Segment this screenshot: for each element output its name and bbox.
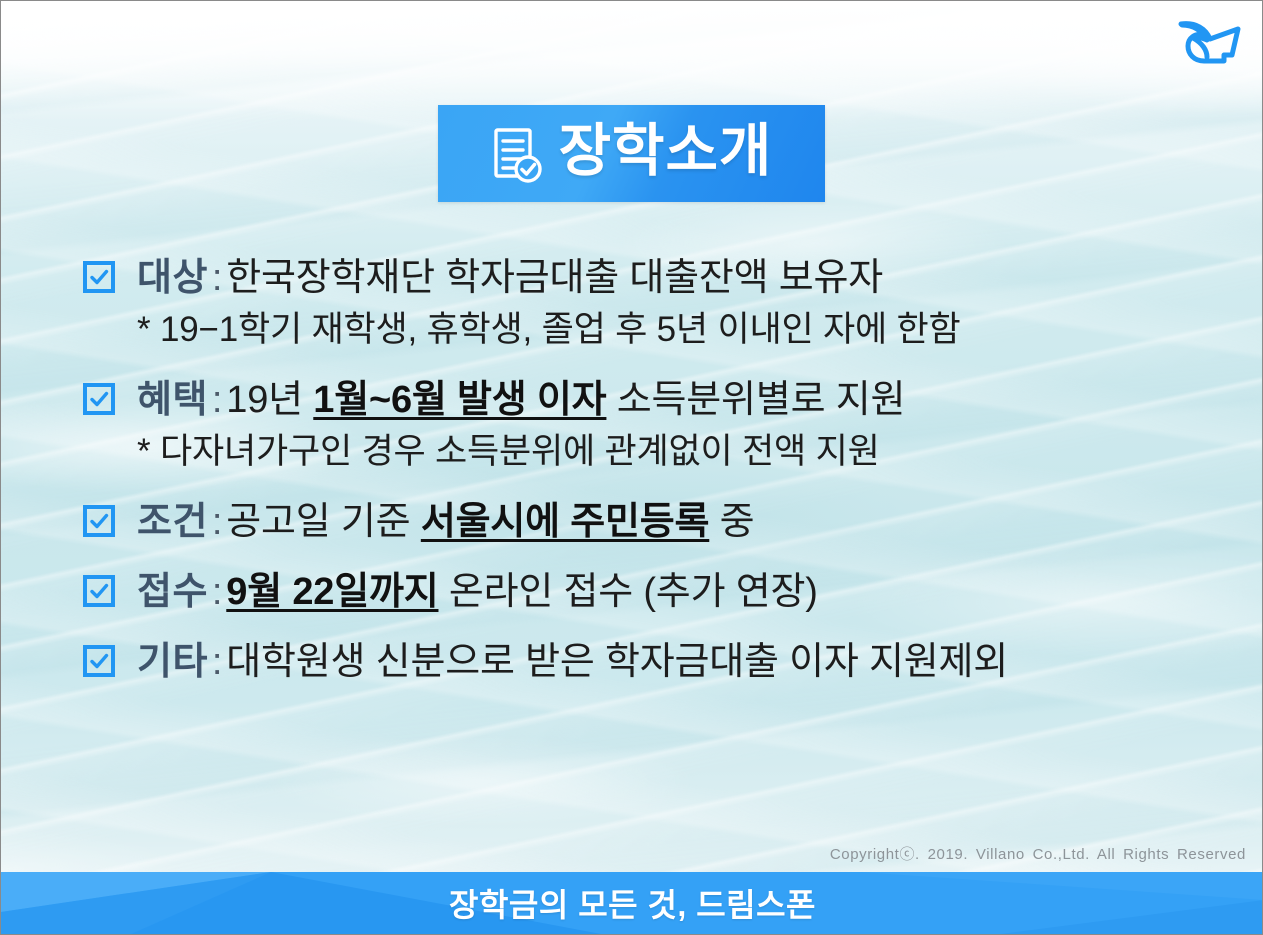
list-item-colon: : (208, 571, 226, 613)
bullet-list: 대상:한국장학재단 학자금대출 대출잔액 보유자 * 19−1학기 재학생, 휴… (1, 253, 1263, 691)
bottom-bar: 장학금의 모든 것, 드림스폰 (1, 872, 1263, 934)
bird-checkmark-logo-icon (1176, 9, 1248, 77)
list-item-label: 대상 (137, 257, 208, 299)
list-item-body-emphasis: 9월 22일까지 (226, 571, 438, 613)
list-item-colon: : (208, 257, 226, 299)
list-item-body-before: 공고일 기준 (226, 501, 421, 543)
list-item-text: 혜택:19년 1월~6월 발생 이자 소득분위별로 지원 (137, 375, 905, 425)
list-item-colon: : (208, 501, 226, 543)
list-item-subline: * 다자녀가구인 경우 소득분위에 관계없이 전액 지원 (1, 429, 1263, 475)
checkbox-checked-icon (83, 383, 115, 415)
list-item-label: 조건 (137, 501, 208, 543)
list-item-body-after: 소득분위별로 지원 (606, 379, 905, 421)
list-item-text: 접수:9월 22일까지 온라인 접수 (추가 연장) (137, 567, 818, 617)
list-item-label: 혜택 (137, 379, 208, 421)
checkbox-checked-icon (83, 261, 115, 293)
list-item-subline: * 19−1학기 재학생, 휴학생, 졸업 후 5년 이내인 자에 한함 (1, 307, 1263, 353)
spacer (1, 621, 1263, 637)
list-item-body-after: 중 (709, 501, 754, 543)
slide: 장학소개 대상:한국장학재단 학자금대출 대출잔액 보유자 * 19−1학기 재… (0, 0, 1263, 935)
list-item-body-before: 대학원생 신분으로 받은 학자금대출 이자 지원제외 (226, 641, 1008, 683)
checkbox-checked-icon (83, 645, 115, 677)
title-banner: 장학소개 (438, 105, 825, 202)
bottom-bar-text: 장학금의 모든 것, 드림스폰 (449, 880, 816, 926)
list-item-colon: : (208, 379, 226, 421)
spacer (1, 353, 1263, 375)
top-fade-overlay (1, 1, 1262, 121)
document-check-icon (491, 126, 543, 184)
list-item-colon: : (208, 641, 226, 683)
list-item-text: 대상:한국장학재단 학자금대출 대출잔액 보유자 (137, 253, 883, 303)
list-item: 기타:대학원생 신분으로 받은 학자금대출 이자 지원제외 (1, 637, 1263, 687)
list-item-text: 조건:공고일 기준 서울시에 주민등록 중 (137, 497, 754, 547)
checkbox-checked-icon (83, 505, 115, 537)
list-item-label: 접수 (137, 571, 208, 613)
copyright-text: Copyrightⓒ. 2019. Villano Co.,Ltd. All R… (830, 843, 1246, 864)
spacer (1, 551, 1263, 567)
list-item-body-emphasis: 1월~6월 발생 이자 (313, 379, 606, 421)
list-item: 조건:공고일 기준 서울시에 주민등록 중 (1, 497, 1263, 547)
checkbox-checked-icon (83, 575, 115, 607)
list-item-body-before: 한국장학재단 학자금대출 대출잔액 보유자 (226, 257, 883, 299)
list-item-body-emphasis: 서울시에 주민등록 (421, 501, 709, 543)
spacer (1, 475, 1263, 497)
list-item: 혜택:19년 1월~6월 발생 이자 소득분위별로 지원 (1, 375, 1263, 425)
page-title: 장학소개 (559, 123, 773, 184)
list-item-body-after: 온라인 접수 (추가 연장) (438, 571, 817, 613)
list-item-text: 기타:대학원생 신분으로 받은 학자금대출 이자 지원제외 (137, 637, 1008, 687)
list-item: 대상:한국장학재단 학자금대출 대출잔액 보유자 (1, 253, 1263, 303)
list-item-body-before: 19년 (226, 379, 313, 421)
list-item: 접수:9월 22일까지 온라인 접수 (추가 연장) (1, 567, 1263, 617)
list-item-label: 기타 (137, 641, 208, 683)
